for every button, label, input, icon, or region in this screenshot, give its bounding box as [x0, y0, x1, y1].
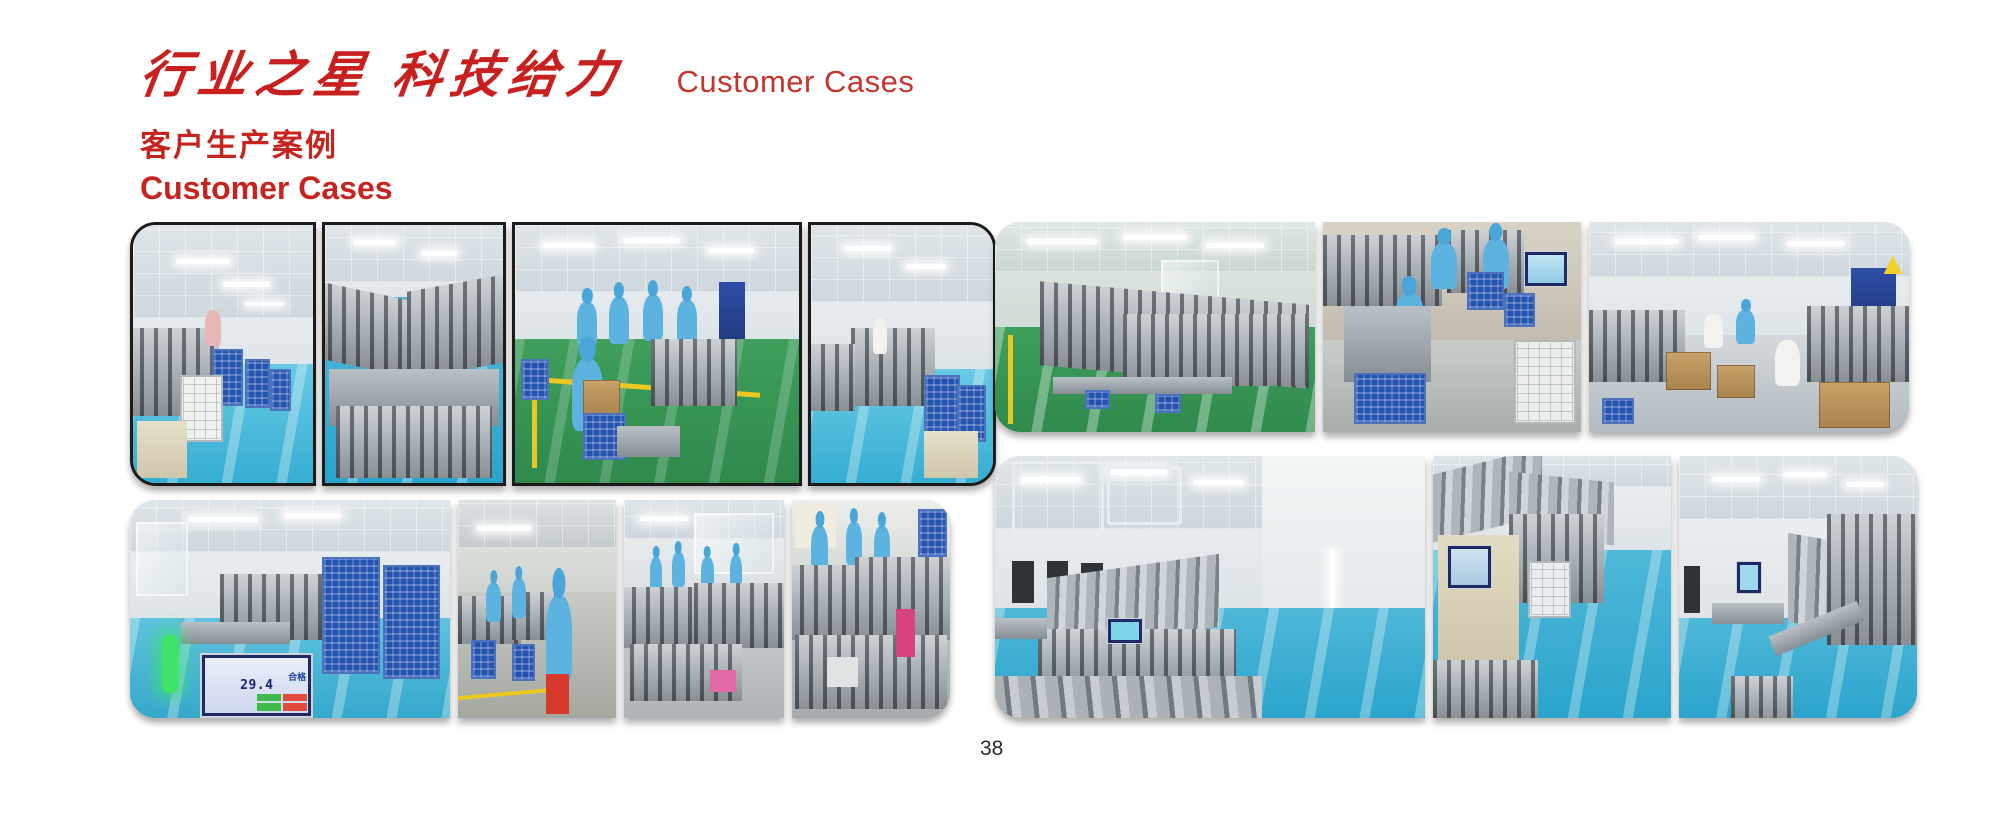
title-row: 行业之星 科技给力 Customer Cases: [140, 50, 1340, 112]
photo-blue-floor-machine-line[interactable]: [322, 222, 506, 486]
photo-warehouse-cartons[interactable]: [1589, 222, 1909, 432]
photo-blue-floor-corridor-rails[interactable]: [995, 456, 1425, 718]
subtitle-chinese: 客户生产案例: [140, 128, 1340, 164]
slide-header: 行业之星 科技给力 Customer Cases 客户生产案例 Customer…: [140, 50, 1340, 206]
photo-green-aisle-machine-bank[interactable]: [995, 222, 1315, 432]
hmi-pad-red-1[interactable]: [283, 694, 307, 702]
bottom-left-gallery: 29.4 合格: [130, 500, 950, 718]
hmi-button-pads[interactable]: [257, 694, 307, 711]
top-left-gallery: [130, 222, 996, 480]
photo-packing-station-trolley[interactable]: [1323, 222, 1581, 432]
hmi-weight-value: 29.4: [240, 678, 273, 693]
subtitle-english: Customer Cases: [140, 170, 1340, 207]
slide-canvas: 行业之星 科技给力 Customer Cases 客户生产案例 Customer…: [0, 0, 2009, 838]
bottom-right-gallery: [995, 456, 1917, 718]
title-english: Customer Cases: [677, 64, 915, 100]
hmi-pad-red-2[interactable]: [283, 703, 307, 711]
hmi-pad-green-1[interactable]: [257, 694, 281, 702]
hmi-pad-green-2[interactable]: [257, 703, 281, 711]
photo-green-floor-operators[interactable]: [512, 222, 802, 486]
photo-assembly-line-totes[interactable]: [130, 222, 316, 486]
photo-cleanroom-conveyor[interactable]: [1679, 456, 1917, 718]
photo-corridor-equipment-row[interactable]: [808, 222, 996, 486]
photo-machine-closeup-line[interactable]: [792, 500, 950, 718]
photo-packing-machines-row[interactable]: [624, 500, 784, 718]
photo-shopfloor-operator[interactable]: [458, 500, 616, 718]
calligraphy-title: 行业之星 科技给力: [136, 50, 628, 100]
page-number: 38: [980, 737, 1003, 761]
hmi-status-label: 合格: [288, 670, 306, 683]
photo-cabinet-line-blue-floor[interactable]: [1433, 456, 1671, 718]
top-right-gallery: [995, 222, 1909, 432]
photo-checkweigher-hmi[interactable]: 29.4 合格: [130, 500, 450, 718]
